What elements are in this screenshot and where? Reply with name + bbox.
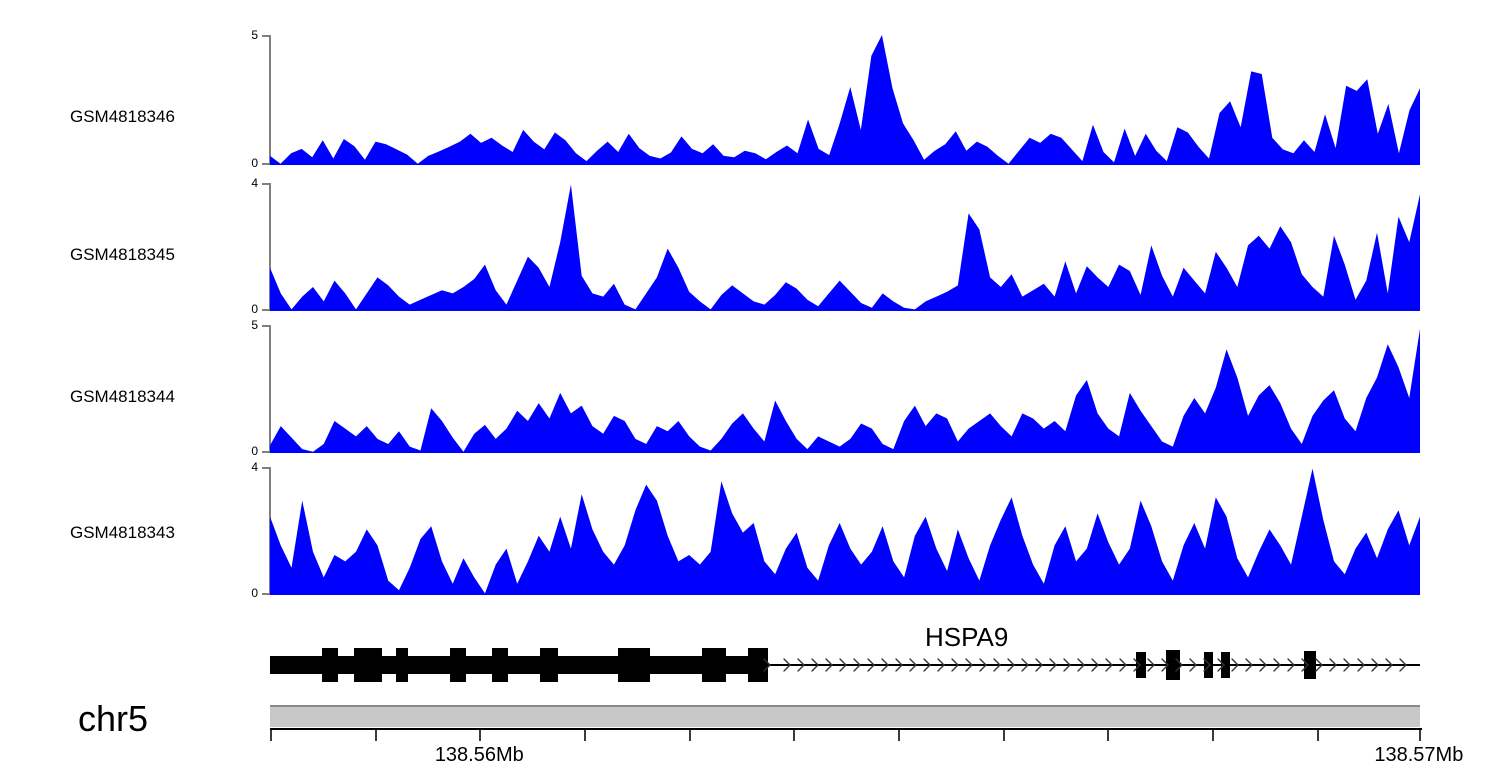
axis-tick bbox=[793, 730, 795, 741]
track-2-coverage-area bbox=[270, 325, 1420, 453]
coverage-track-1: GSM4818345 4 0 bbox=[0, 183, 1500, 311]
gene-exon bbox=[322, 648, 338, 682]
track-1-coverage-area bbox=[270, 183, 1420, 311]
track-1-axis-min: 0 bbox=[251, 303, 258, 315]
coverage-track-2: GSM4818344 5 0 bbox=[0, 325, 1500, 453]
gene-exon bbox=[1136, 652, 1146, 678]
gene-exon bbox=[354, 648, 382, 682]
gene-exon bbox=[618, 648, 650, 682]
gene-model-glyphs bbox=[270, 648, 1420, 682]
axis-tick bbox=[689, 730, 691, 741]
gene-exon bbox=[492, 648, 508, 682]
gene-body-left bbox=[270, 656, 760, 674]
track-label-0: GSM4818346 bbox=[70, 107, 240, 127]
axis-tick bbox=[1419, 730, 1421, 741]
track-3-axis-max: 4 bbox=[251, 461, 258, 473]
gene-model-track[interactable] bbox=[270, 620, 1420, 700]
coverage-area-path bbox=[270, 469, 1420, 595]
coverage-track-3: GSM4818343 4 0 bbox=[0, 467, 1500, 595]
coverage-area-path bbox=[270, 35, 1420, 165]
track-3-coverage-area bbox=[270, 467, 1420, 595]
gene-exon bbox=[540, 648, 558, 682]
gene-model-svg bbox=[270, 620, 1420, 700]
axis-tick bbox=[898, 730, 900, 741]
gene-exon bbox=[1304, 651, 1316, 679]
gene-exon bbox=[748, 648, 768, 682]
axis-tick bbox=[270, 730, 272, 741]
track-0-axis-max: 5 bbox=[251, 29, 258, 41]
track-2-axis-max: 5 bbox=[251, 319, 258, 331]
axis-tick-label: 138.57Mb bbox=[1374, 744, 1463, 767]
gene-exon bbox=[1221, 652, 1230, 678]
track-1-axis-max: 4 bbox=[251, 177, 258, 189]
track-label-2: GSM4818344 bbox=[70, 387, 240, 407]
coverage-track-0: GSM4818346 5 0 bbox=[0, 35, 1500, 165]
genome-browser: GSM4818346 5 0 GSM4818345 4 0 GSM4818344… bbox=[0, 0, 1500, 780]
coverage-area-path bbox=[270, 185, 1420, 311]
track-label-1: GSM4818345 bbox=[70, 245, 240, 265]
axis-tick bbox=[1212, 730, 1214, 741]
axis-tick bbox=[1003, 730, 1005, 741]
chromosome-label: chr5 bbox=[78, 698, 148, 740]
track-0-axis-min: 0 bbox=[251, 157, 258, 169]
coordinate-axis-line bbox=[270, 728, 1422, 730]
gene-exon bbox=[450, 648, 466, 682]
axis-tick bbox=[479, 730, 481, 741]
axis-tick bbox=[1317, 730, 1319, 741]
axis-tick-label: 138.56Mb bbox=[435, 744, 524, 767]
track-2-plot bbox=[270, 325, 1420, 453]
axis-tick bbox=[584, 730, 586, 741]
track-0-plot bbox=[270, 35, 1420, 165]
gene-exon bbox=[396, 648, 408, 682]
track-label-3: GSM4818343 bbox=[70, 523, 240, 543]
track-1-plot bbox=[270, 183, 1420, 311]
track-0-coverage-area bbox=[270, 35, 1420, 165]
track-2-axis-min: 0 bbox=[251, 445, 258, 457]
track-3-axis-min: 0 bbox=[251, 587, 258, 599]
track-3-plot bbox=[270, 467, 1420, 595]
gene-exon bbox=[1204, 652, 1213, 678]
axis-tick bbox=[375, 730, 377, 741]
ideogram-bar[interactable] bbox=[270, 705, 1420, 727]
gene-exon bbox=[702, 648, 726, 682]
axis-tick bbox=[1107, 730, 1109, 741]
coverage-area-path bbox=[270, 329, 1420, 453]
